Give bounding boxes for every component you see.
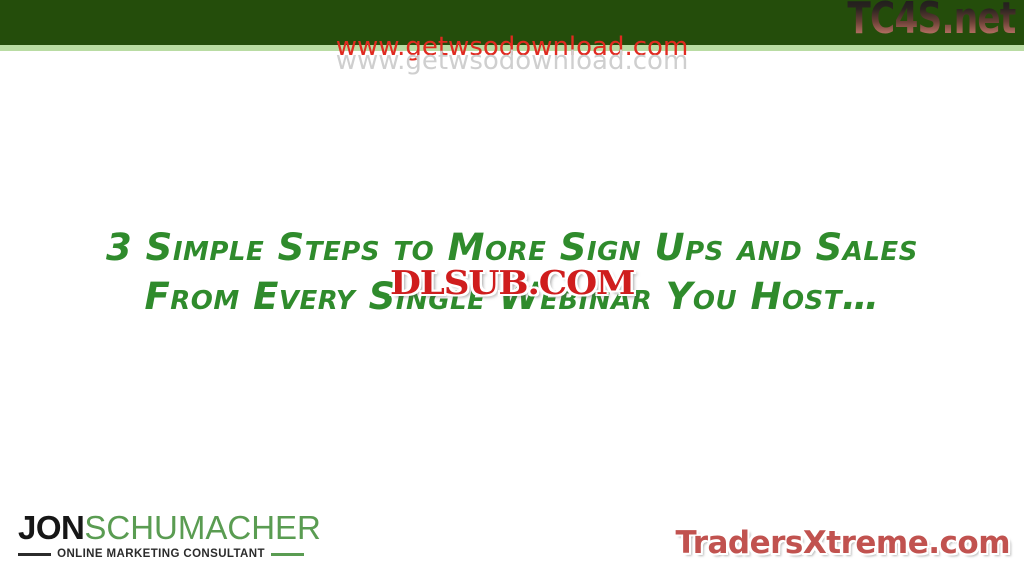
page-title: 3 Simple Steps to More Sign Ups and Sale… [0,224,1024,322]
tc4s-brand-logo: TC4S.net [848,0,1016,42]
presenter-tagline-row: ONLINE MARKETING CONSULTANT [18,548,304,560]
getwsodownload-watermark-ghost: www.getwsodownload.com [0,48,1024,74]
tagline-rule-left [18,553,51,556]
tradersxtreme-watermark: TradersXtreme.com [675,526,1010,562]
presenter-logo-name: JONSCHUMACHER [18,511,304,544]
tagline-rule-right [271,553,304,556]
presenter-logo: JONSCHUMACHER ONLINE MARKETING CONSULTAN… [18,511,304,560]
presenter-last-name: SCHUMACHER [84,509,321,546]
tradersxtreme-watermark-text: TradersXtreme.com [675,525,1010,561]
top-banner-accent-stripe [0,45,1024,51]
presenter-first-name: JON [18,509,84,546]
slide-canvas: TC4S.net www.getwsodownload.com www.getw… [0,0,1024,576]
presenter-tagline: ONLINE MARKETING CONSULTANT [57,548,265,560]
headline-line-1: 3 Simple Steps to More Sign Ups and Sale… [0,224,1024,273]
headline-line-2: From Every Single Webinar You Host… [0,273,1024,322]
